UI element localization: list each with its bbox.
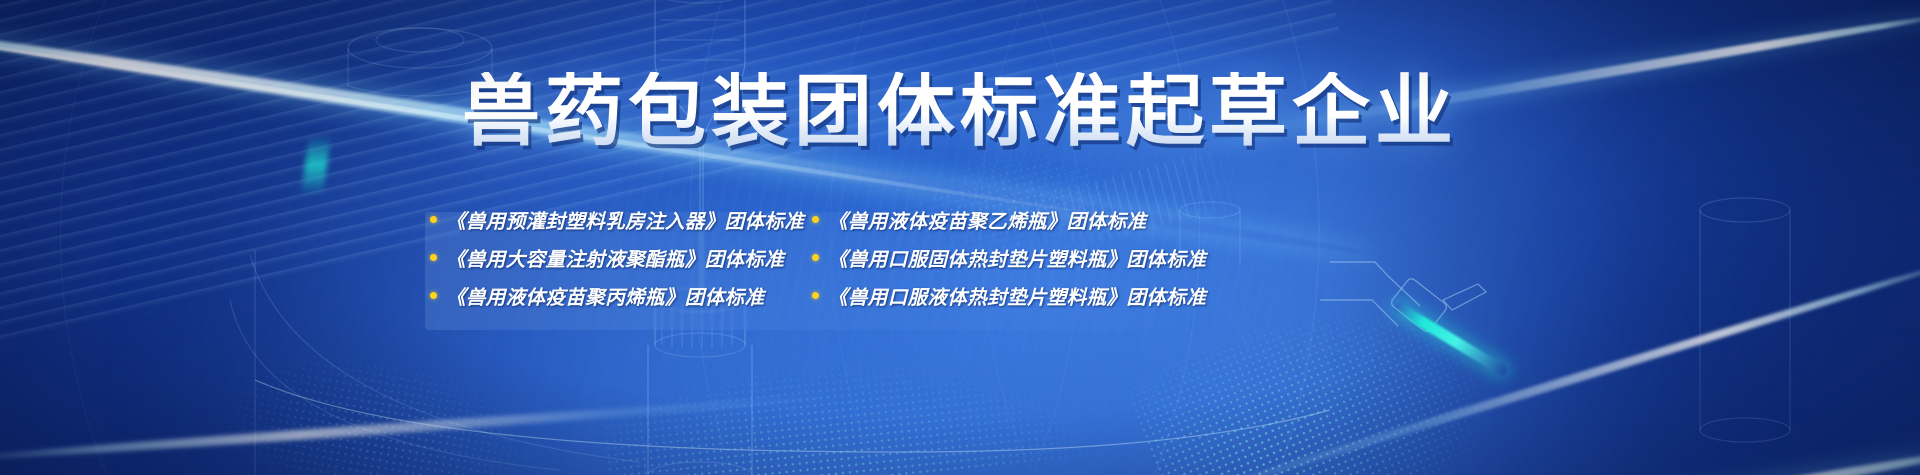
vignette-overlay xyxy=(0,0,1920,475)
promo-banner: 兽药包装团体标准起草企业 《兽用预灌封塑料乳房注入器》团体标准 《兽用液体疫苗聚… xyxy=(0,0,1920,475)
